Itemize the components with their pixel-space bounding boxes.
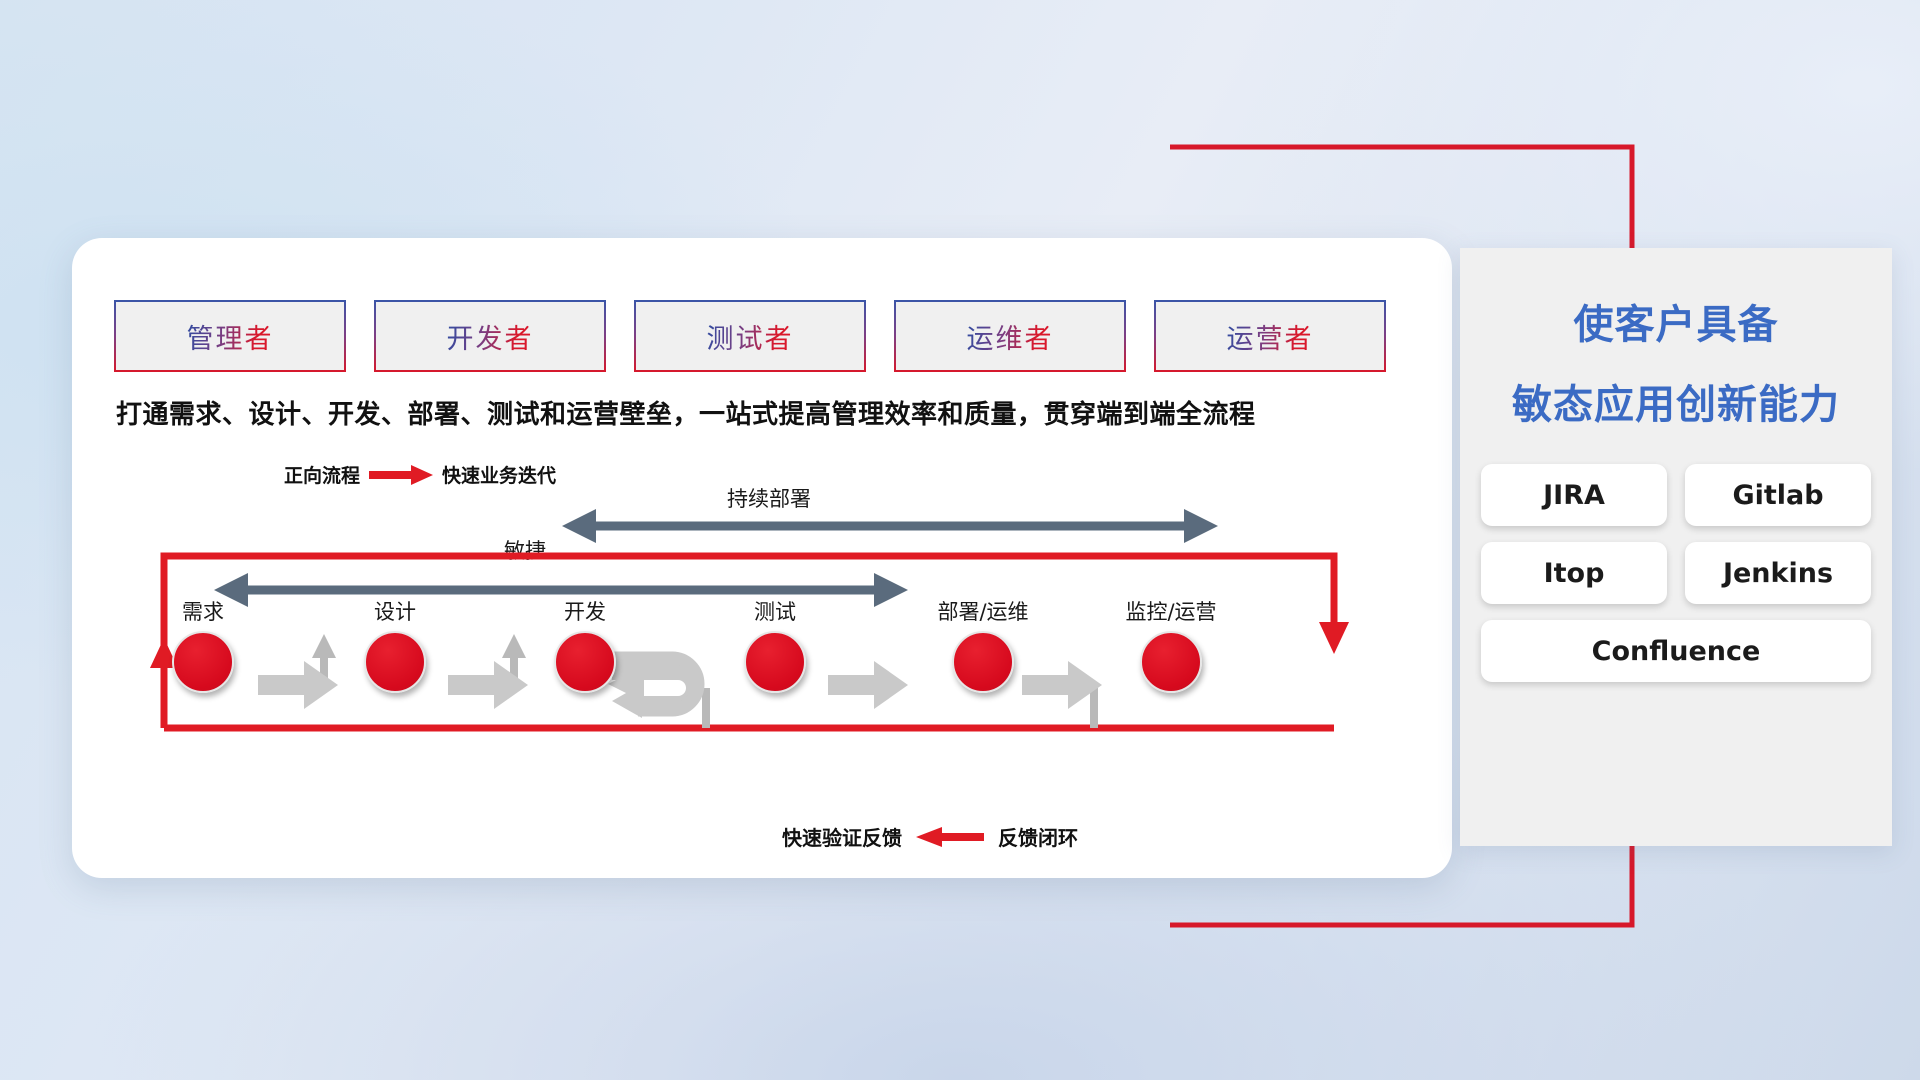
- arrow-left-red-icon: [916, 827, 984, 847]
- legend-feedback-to: 反馈闭环: [998, 822, 1078, 851]
- tool-pill-jira[interactable]: JIRA: [1481, 464, 1667, 526]
- main-card: 管理者 开发者 测试者 运维者 运营者 打通需求、设计、开发、部署、测试和运营壁…: [72, 238, 1452, 878]
- node-label: 监控/运营: [1116, 596, 1226, 626]
- flow-diagram-svg: [72, 238, 1452, 878]
- pipeline-nodes: 需求 设计 开发 测试 部署/运维 监控/运营: [72, 596, 1452, 726]
- pipeline-node-requirement[interactable]: 需求: [148, 596, 258, 693]
- tool-pill-gitlab[interactable]: Gitlab: [1685, 464, 1871, 526]
- node-circle: [1140, 631, 1202, 693]
- tool-pill-itop[interactable]: Itop: [1481, 542, 1667, 604]
- tool-pill-confluence[interactable]: Confluence: [1481, 620, 1871, 682]
- panel-heading-line2: 敏态应用创新能力: [1460, 372, 1892, 430]
- double-arrow-continuous-deploy: [562, 509, 1218, 543]
- node-circle: [172, 631, 234, 693]
- node-label: 设计: [340, 596, 450, 626]
- pipeline-node-design[interactable]: 设计: [340, 596, 450, 693]
- legend-feedback-from: 快速验证反馈: [782, 822, 902, 851]
- tool-pill-list: JIRA Gitlab Itop Jenkins Confluence: [1460, 464, 1892, 682]
- node-circle: [744, 631, 806, 693]
- pipeline-node-develop[interactable]: 开发: [530, 596, 640, 693]
- node-label: 部署/运维: [928, 596, 1038, 626]
- value-panel: 使客户具备 敏态应用创新能力 JIRA Gitlab Itop Jenkins …: [1460, 248, 1892, 846]
- pipeline-node-test[interactable]: 测试: [720, 596, 830, 693]
- legend-feedback-loop: 快速验证反馈 反馈闭环: [782, 822, 1078, 851]
- node-label: 需求: [148, 596, 258, 626]
- node-circle: [952, 631, 1014, 693]
- pipeline-node-monitor-operate[interactable]: 监控/运营: [1116, 596, 1226, 693]
- pipeline-node-deploy-ops[interactable]: 部署/运维: [928, 596, 1038, 693]
- slide-canvas: 管理者 开发者 测试者 运维者 运营者 打通需求、设计、开发、部署、测试和运营壁…: [0, 0, 1920, 1080]
- node-circle: [364, 631, 426, 693]
- node-label: 开发: [530, 596, 640, 626]
- node-circle: [554, 631, 616, 693]
- panel-heading-line1: 使客户具备: [1460, 292, 1892, 350]
- node-label: 测试: [720, 596, 830, 626]
- tool-pill-jenkins[interactable]: Jenkins: [1685, 542, 1871, 604]
